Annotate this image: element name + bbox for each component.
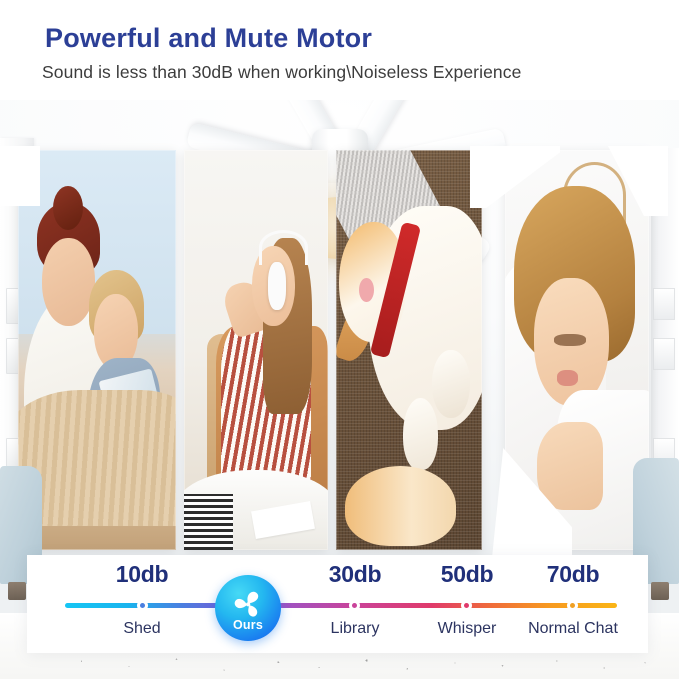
- collage-wedge: [0, 146, 40, 206]
- scale-tick-50db: [461, 600, 472, 611]
- decibel-comparison-card: 10db Shed Ours 30db Library: [27, 555, 648, 653]
- scale-tick-30db: [349, 600, 360, 611]
- page-subtitle: Sound is less than 30dB when working\Noi…: [42, 62, 521, 83]
- product-feature-image: Powerful and Mute Motor Sound is less th…: [0, 0, 679, 679]
- scale-label-normal-chat: Normal Chat: [503, 620, 643, 638]
- photo-panel-woman-with-headphones: [184, 150, 328, 550]
- scale-value-30db: 30db: [310, 561, 400, 588]
- photo-panel-sleeping-cat: [336, 150, 482, 550]
- scale-value-50db: 50db: [422, 561, 512, 588]
- scale-label-shed: Shed: [72, 620, 212, 638]
- ours-badge[interactable]: Ours: [215, 575, 281, 641]
- scale-value-70db: 70db: [528, 561, 618, 588]
- ours-badge-label: Ours: [215, 618, 281, 632]
- page-title: Powerful and Mute Motor: [45, 23, 372, 54]
- scale-tick-70db: [567, 600, 578, 611]
- header: Powerful and Mute Motor Sound is less th…: [0, 0, 679, 100]
- scale-value-10db: 10db: [97, 561, 187, 588]
- decibel-scale: 10db Shed Ours 30db Library: [27, 555, 648, 653]
- scale-tick-10db: [137, 600, 148, 611]
